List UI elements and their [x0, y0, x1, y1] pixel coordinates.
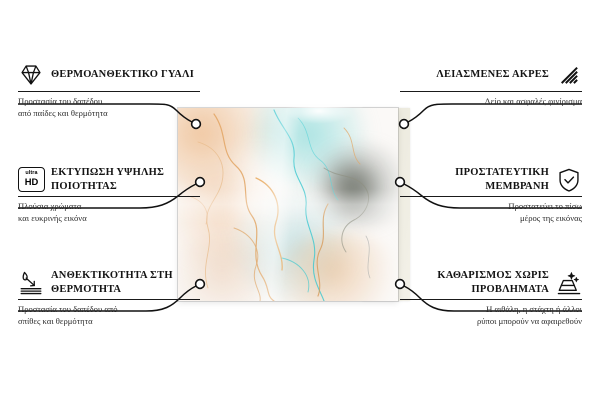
ultra-hd-bottom: HD: [25, 177, 39, 186]
flame-heat-resistance-icon: [18, 270, 44, 296]
feature-desc: Λείο και ασφαλές φινίρισμα: [400, 96, 582, 108]
ink-veins: [178, 108, 398, 301]
shield-check-icon: [556, 167, 582, 193]
divider: [400, 196, 582, 197]
infographic-canvas: ΘΕΡΜΟΑΝΘΕΚΤΙΚΟ ΓΥΑΛΙ Προστασία του δαπέδ…: [0, 0, 600, 400]
feature-title: ΚΑΘΑΡΙΣΜΟΣ ΧΩΡΙΣ ΠΡΟΒΛΗΜΑΤΑ: [400, 269, 549, 296]
feature-title: ΑΝΘΕΚΤΙΚΟΤΗΤΑ ΣΤΗ ΘΕΡΜΟΤΗΤΑ: [51, 269, 200, 296]
feature-protective-membrane: ΠΡΟΣΤΑΤΕΥΤΙΚΗ ΜΕΜΒΡΑΝΗ Προστατεύει το πί…: [400, 166, 582, 224]
product-image: [178, 108, 398, 301]
feature-desc: Προστασία του δαπέδουαπό παίδες και θερμ…: [18, 96, 200, 119]
divider: [18, 299, 200, 300]
sponge-sparkle-icon: [556, 270, 582, 296]
feature-title: ΘΕΡΜΟΑΝΘΕΚΤΙΚΟ ΓΥΑΛΙ: [51, 68, 194, 82]
divider: [400, 299, 582, 300]
ink-artwork: [178, 108, 398, 301]
ultra-hd-icon: ultra HD: [18, 167, 44, 193]
diamond-icon: [18, 62, 44, 88]
feature-high-quality-print: ultra HD ΕΚΤΥΠΩΣΗ ΥΨΗΛΗΣ ΠΟΙΟΤΗΤΑΣ Πλούσ…: [18, 166, 200, 224]
feature-title: ΠΡΟΣΤΑΤΕΥΤΙΚΗ ΜΕΜΒΡΑΝΗ: [400, 166, 549, 193]
feature-polished-edges: ΛΕΙΑΣΜΕΝΕΣ ΑΚΡΕΣ Λείο και ασφαλές φινίρι…: [400, 62, 582, 108]
feature-desc: Πλούσια χρώματακαι ευκρινής εικόνα: [18, 201, 200, 224]
divider: [18, 196, 200, 197]
divider: [18, 91, 200, 92]
feature-title: ΛΕΙΑΣΜΕΝΕΣ ΑΚΡΕΣ: [436, 68, 549, 82]
feature-desc: Προστασία του δαπέδου απόσπίθες και θερμ…: [18, 304, 200, 327]
divider: [400, 91, 582, 92]
feature-title: ΕΚΤΥΠΩΣΗ ΥΨΗΛΗΣ ΠΟΙΟΤΗΤΑΣ: [51, 166, 200, 193]
feature-easy-cleaning: ΚΑΘΑΡΙΣΜΟΣ ΧΩΡΙΣ ΠΡΟΒΛΗΜΑΤΑ Η αιθάλη, η …: [400, 269, 582, 327]
feature-heat-resistant-glass: ΘΕΡΜΟΑΝΘΕΚΤΙΚΟ ΓΥΑΛΙ Προστασία του δαπέδ…: [18, 62, 200, 119]
glass-panel: [178, 108, 398, 301]
feature-desc: Η αιθάλη, η στάχτη ή άλλοιρύποι μπορούν …: [400, 304, 582, 327]
polished-edges-icon: [556, 62, 582, 88]
feature-desc: Προστατεύει το πίσωμέρος της εικόνας: [400, 201, 582, 224]
feature-heat-durability: ΑΝΘΕΚΤΙΚΟΤΗΤΑ ΣΤΗ ΘΕΡΜΟΤΗΤΑ Προστασία το…: [18, 269, 200, 327]
